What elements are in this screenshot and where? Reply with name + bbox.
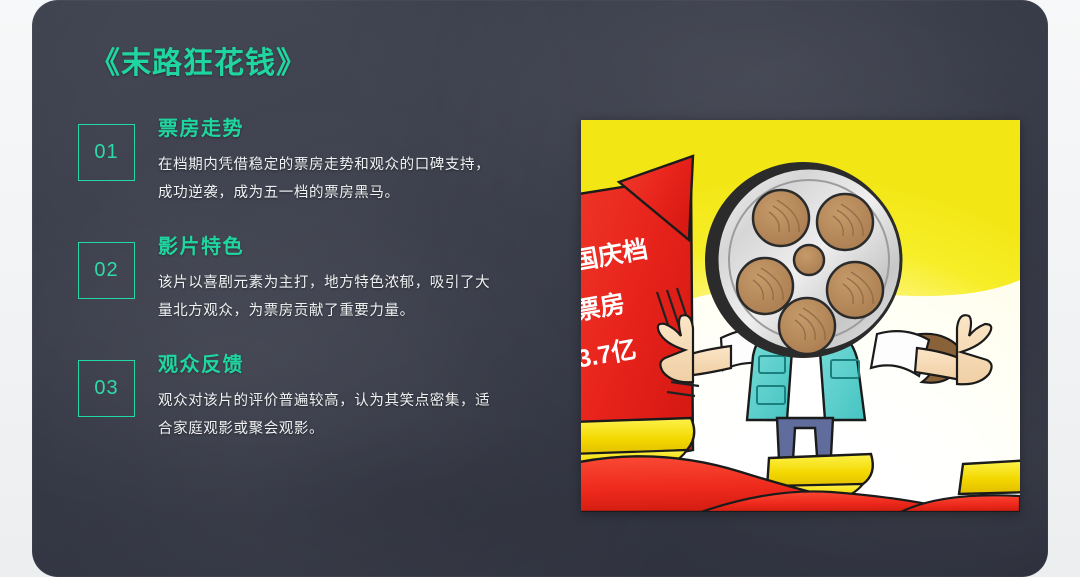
list-item-body: 影片特色 该片以喜剧元素为主打，地方特色浓郁，吸引了大量北方观众，为票房贡献了重… xyxy=(158,236,548,325)
list-item-body: 票房走势 在档期内凭借稳定的票房走势和观众的口碑支持，成功逆袭，成为五一档的票房… xyxy=(158,118,548,207)
list-item[interactable]: 01 票房走势 在档期内凭借稳定的票房走势和观众的口碑支持，成功逆袭，成为五一档… xyxy=(78,118,548,207)
item-number-badge: 03 xyxy=(78,360,135,417)
slide-stage: 《末路狂花钱》 01 票房走势 在档期内凭借稳定的票房走势和观众的口碑支持，成功… xyxy=(0,0,1080,577)
item-number-badge: 02 xyxy=(78,242,135,299)
item-description: 该片以喜剧元素为主打，地方特色浓郁，吸引了大量北方观众，为票房贡献了重要力量。 xyxy=(158,269,498,325)
item-description: 在档期内凭借稳定的票房走势和观众的口碑支持，成功逆袭，成为五一档的票房黑马。 xyxy=(158,151,498,207)
item-number-label: 01 xyxy=(94,141,118,164)
illustration-image: 国庆档 票房 43.7亿 xyxy=(581,120,1020,512)
item-heading: 观众反馈 xyxy=(158,354,548,376)
list-item-body: 观众反馈 观众对该片的评价普遍较高，认为其笑点密集，适合家庭观影或聚会观影。 xyxy=(158,354,548,443)
feature-list: 01 票房走势 在档期内凭借稳定的票房走势和观众的口碑支持，成功逆袭，成为五一档… xyxy=(78,118,548,443)
item-heading: 票房走势 xyxy=(158,118,548,140)
item-number-badge: 01 xyxy=(78,124,135,181)
item-heading: 影片特色 xyxy=(158,236,548,258)
content-panel: 《末路狂花钱》 01 票房走势 在档期内凭借稳定的票房走势和观众的口碑支持，成功… xyxy=(32,0,1048,577)
list-item[interactable]: 02 影片特色 该片以喜剧元素为主打，地方特色浓郁，吸引了大量北方观众，为票房贡… xyxy=(78,236,548,325)
item-description: 观众对该片的评价普遍较高，认为其笑点密集，适合家庭观影或聚会观影。 xyxy=(158,387,498,443)
item-number-label: 02 xyxy=(94,259,118,282)
page-title: 《末路狂花钱》 xyxy=(90,38,307,82)
list-item[interactable]: 03 观众反馈 观众对该片的评价普遍较高，认为其笑点密集，适合家庭观影或聚会观影… xyxy=(78,354,548,443)
film-reel-head xyxy=(705,162,901,358)
item-number-label: 03 xyxy=(94,377,118,400)
